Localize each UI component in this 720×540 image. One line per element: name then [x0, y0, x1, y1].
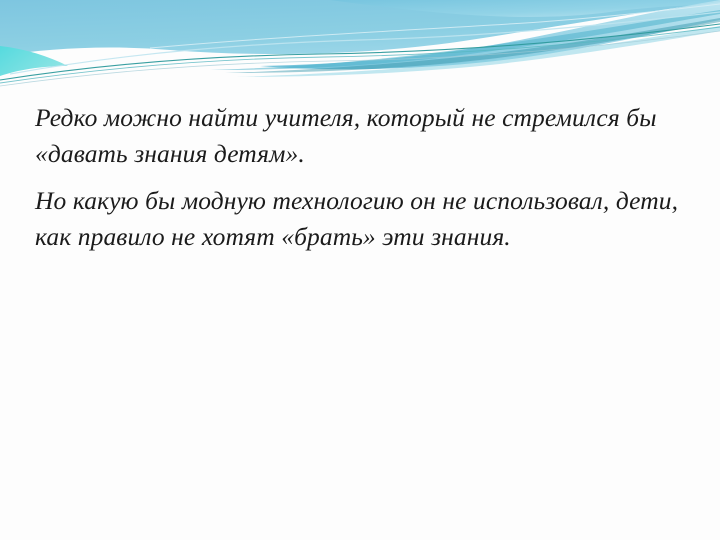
slide-body-text: Редко можно найти учителя, который не ст… — [35, 96, 690, 255]
slide-canvas: Редко можно найти учителя, который не ст… — [0, 0, 720, 540]
wave-banner-graphic — [0, 0, 720, 96]
wave-ribbon-banner — [0, 0, 720, 96]
body-paragraph-1: Редко можно найти учителя, который не ст… — [35, 100, 690, 172]
body-paragraph-2: Но какую бы модную технологию он не испо… — [35, 183, 690, 255]
